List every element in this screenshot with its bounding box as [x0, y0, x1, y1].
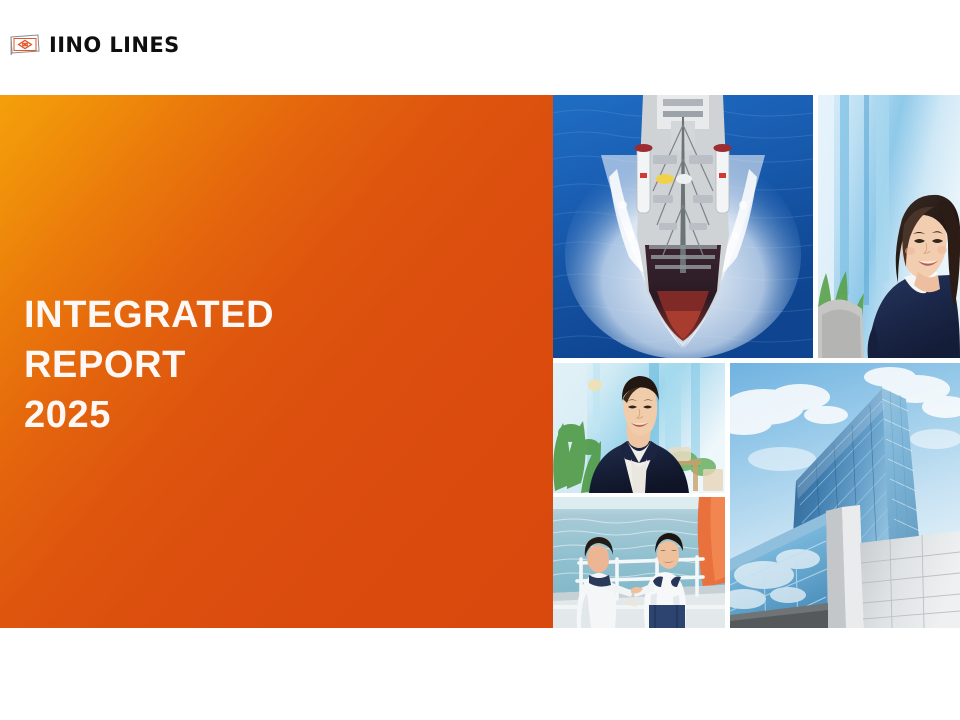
smiling-female-employee-photo	[818, 95, 960, 358]
page-title-line-2: REPORT	[24, 340, 274, 390]
page-header: IINO LINES	[0, 0, 960, 95]
page-title-line-1: INTEGRATED	[24, 290, 274, 340]
brand-lockup[interactable]: IINO LINES	[8, 32, 180, 58]
brand-name-wordmark: IINO LINES	[49, 35, 180, 56]
page-title-line-3: 2025	[24, 390, 274, 440]
iino-lines-flag-icon	[8, 32, 42, 58]
report-cover-page: IINO LINES INTEGRATED REPORT 2025	[0, 0, 960, 720]
office-tower-photo	[730, 363, 960, 628]
page-title: INTEGRATED REPORT 2025	[24, 290, 274, 440]
hero-orange-panel: INTEGRATED REPORT 2025	[0, 95, 553, 628]
tanker-ship-aerial-photo	[553, 95, 813, 358]
crew-handshake-on-deck-photo	[553, 497, 725, 628]
smiling-male-employee-photo	[553, 363, 725, 493]
